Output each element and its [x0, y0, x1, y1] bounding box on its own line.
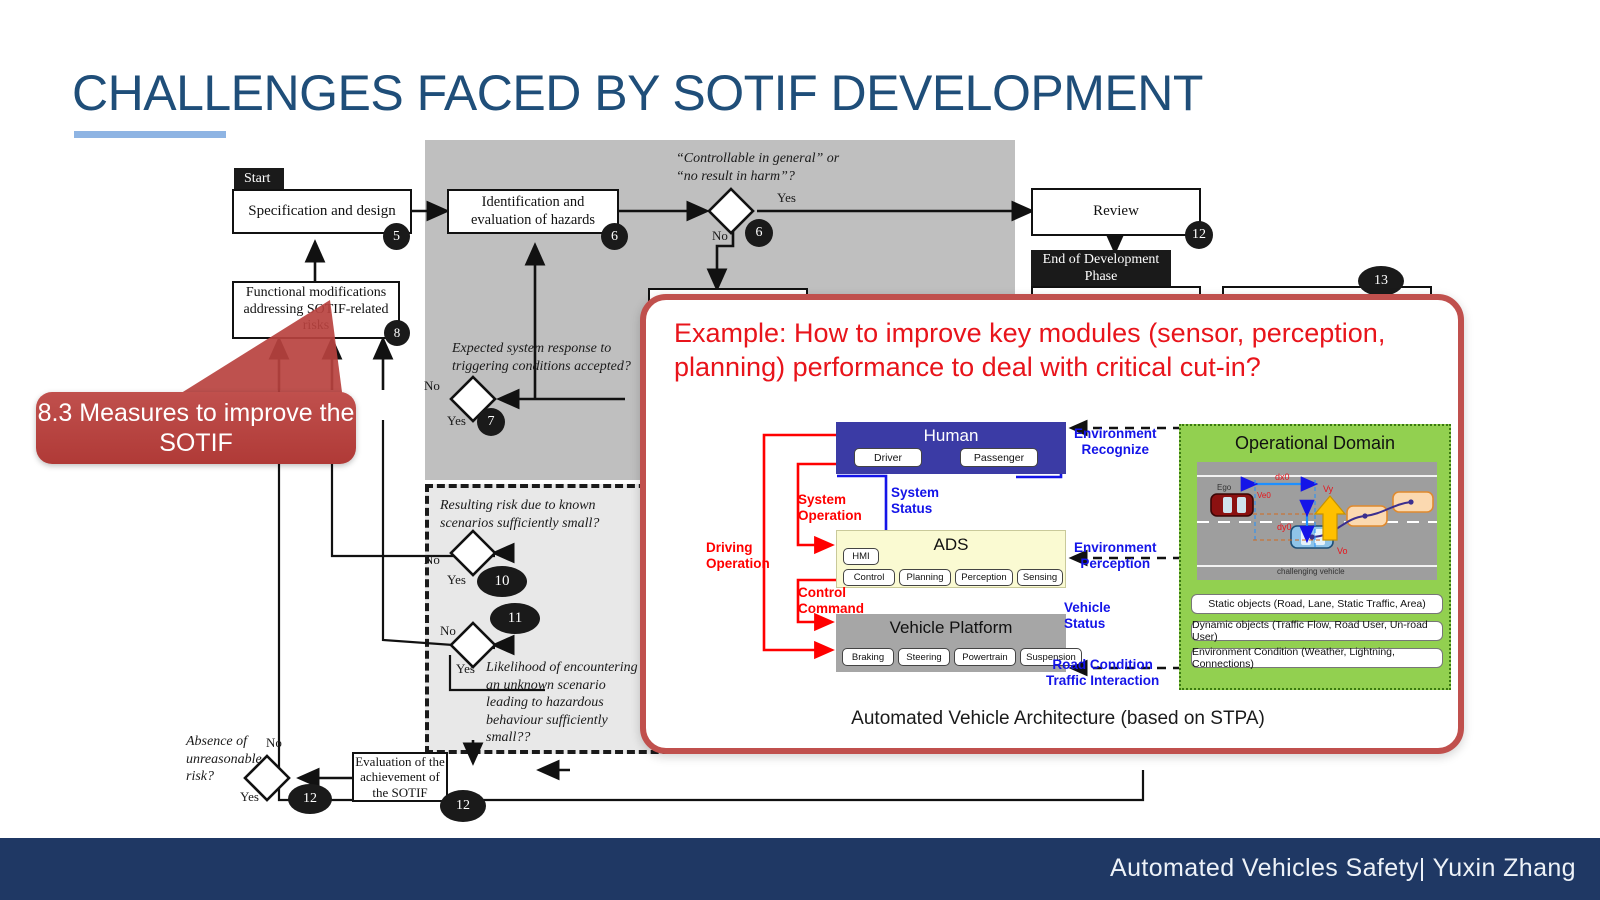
flow-tag-6a: 6	[601, 223, 628, 250]
svg-text:Vo: Vo	[1337, 546, 1348, 556]
flow-box-label: Evaluation of the achievement of the SOT…	[355, 754, 445, 800]
left-callout-measures[interactable]: 8.3 Measures to improve the SOTIF	[36, 392, 356, 464]
cut-in-scenario-image: Ego Ve0 dx0 dy0 Vy Vo challenging vehicl…	[1197, 462, 1437, 580]
flow-question-expected-response: Expected system response to triggering c…	[452, 340, 631, 375]
operational-domain-title: Operational Domain	[1181, 433, 1449, 454]
svg-text:dx0: dx0	[1275, 472, 1290, 482]
flow-branch-yes-1: Yes	[777, 190, 796, 206]
flow-question-controllable: “Controllable in general” or “no result …	[676, 150, 839, 185]
slide-root: CHALLENGES FACED BY SOTIF DEVELOPMENT	[0, 0, 1600, 900]
flow-box-label: End of Development Phase	[1043, 252, 1160, 285]
flow-tag-12b: 12	[288, 784, 332, 814]
flow-branch-no-4: No	[440, 623, 456, 639]
svg-text:challenging vehicle: challenging vehicle	[1277, 567, 1345, 576]
example-question-text: Example: How to improve key modules (sen…	[674, 316, 1454, 385]
operational-domain-panel: Operational Domain	[1179, 424, 1451, 690]
arch-chip-control[interactable]: Control	[843, 569, 895, 586]
arch-block-ads: ADS HMI Control Planning Perception Sens…	[836, 530, 1066, 588]
arch-chip-powertrain[interactable]: Powertrain	[954, 648, 1016, 666]
flow-box-end-of-development-phase: End of Development Phase	[1031, 250, 1171, 287]
od-chip-static-objects[interactable]: Static objects (Road, Lane, Static Traff…	[1191, 594, 1443, 614]
cut-in-scenario-svg: Ego Ve0 dx0 dy0 Vy Vo challenging vehicl…	[1197, 462, 1437, 580]
flow-tag-12a: 12	[1185, 221, 1213, 249]
arch-label-system-status: System Status	[891, 485, 939, 517]
architecture-caption: Automated Vehicle Architecture (based on…	[646, 708, 1470, 730]
od-chip-environment-condition[interactable]: Environment Condition (Weather, Lightnin…	[1191, 648, 1443, 668]
arch-block-title-vehicle: Vehicle Platform	[836, 618, 1066, 638]
flow-branch-no-1: No	[712, 228, 728, 244]
flow-tag-13: 13	[1358, 266, 1404, 296]
arch-label-control-command: Control Command	[798, 585, 864, 617]
arch-chip-planning[interactable]: Planning	[899, 569, 951, 586]
flow-tag-12c: 12	[440, 790, 486, 822]
flow-question-unknown-scenario: Likelihood of encountering an unknown sc…	[486, 659, 638, 747]
flow-box-label: Identification and evaluation of hazards	[471, 194, 595, 228]
svg-text:Ego: Ego	[1217, 483, 1232, 492]
od-chip-dynamic-objects[interactable]: Dynamic objects (Traffic Flow, Road User…	[1191, 621, 1443, 641]
left-callout-label: 8.3 Measures to improve the SOTIF	[36, 398, 356, 459]
footer-title: Automated Vehicles Safety| Yuxin Zhang	[1110, 854, 1576, 883]
flow-box-label: Specification and design	[248, 203, 395, 221]
flow-branch-yes-5: Yes	[240, 789, 259, 805]
arch-block-vehicle-platform: Vehicle Platform Braking Steering Powert…	[836, 614, 1066, 672]
arch-label-driving-operation: Driving Operation	[706, 540, 770, 572]
flow-tag-10: 10	[477, 566, 527, 597]
flow-branch-no-3: No	[424, 552, 440, 568]
flow-box-identification-hazards: Identification and evaluation of hazards	[447, 189, 619, 234]
flow-branch-yes-2: Yes	[447, 413, 466, 429]
arch-label-environment-recognize: Environment Recognize	[1074, 426, 1157, 458]
flow-tag-5: 5	[383, 223, 410, 250]
arch-chip-perception[interactable]: Perception	[955, 569, 1013, 586]
flow-box-review: Review	[1031, 188, 1201, 236]
svg-text:Vy: Vy	[1323, 484, 1334, 494]
flow-tag-8: 8	[384, 320, 410, 346]
flow-branch-yes-3: Yes	[447, 572, 466, 588]
arch-block-human: Human Driver Passenger	[836, 422, 1066, 474]
arch-chip-sensing[interactable]: Sensing	[1017, 569, 1063, 586]
flow-tag-6b: 6	[745, 219, 773, 247]
flow-branch-yes-4: Yes	[456, 661, 475, 677]
flow-question-known-scenarios: Resulting risk due to known scenarios su…	[440, 497, 599, 532]
arch-label-environment-perception: Environment Perception	[1074, 540, 1157, 572]
svg-text:dy0: dy0	[1277, 522, 1292, 532]
arch-chip-steering[interactable]: Steering	[898, 648, 950, 666]
arch-chip-braking[interactable]: Braking	[842, 648, 894, 666]
arch-chip-hmi[interactable]: HMI	[843, 548, 879, 565]
footer-bar: Automated Vehicles Safety| Yuxin Zhang	[0, 838, 1600, 900]
flow-box-label: Review	[1093, 203, 1139, 221]
flow-tag-11: 11	[490, 603, 540, 634]
arch-block-title-human: Human	[836, 426, 1066, 446]
arch-label-system-operation: System Operation	[798, 492, 862, 524]
automated-vehicle-architecture: Human Driver Passenger ADS HMI Control P…	[706, 422, 1106, 688]
flow-branch-no-5: No	[266, 735, 282, 751]
arch-chip-driver[interactable]: Driver	[854, 448, 922, 467]
flow-box-evaluation-sotif: Evaluation of the achievement of the SOT…	[352, 752, 448, 802]
arch-chip-passenger[interactable]: Passenger	[960, 448, 1038, 467]
flow-branch-no-2: No	[424, 378, 440, 394]
svg-text:Ve0: Ve0	[1257, 491, 1271, 500]
flow-tag-7: 7	[477, 408, 505, 436]
flow-start-label: Start	[234, 168, 284, 191]
arch-label-road-condition-traffic: Road Condition Traffic Interaction	[1046, 657, 1159, 689]
flow-question-unreasonable-risk: Absence of unreasonable risk?	[186, 733, 262, 786]
example-panel: Example: How to improve key modules (sen…	[640, 294, 1464, 754]
